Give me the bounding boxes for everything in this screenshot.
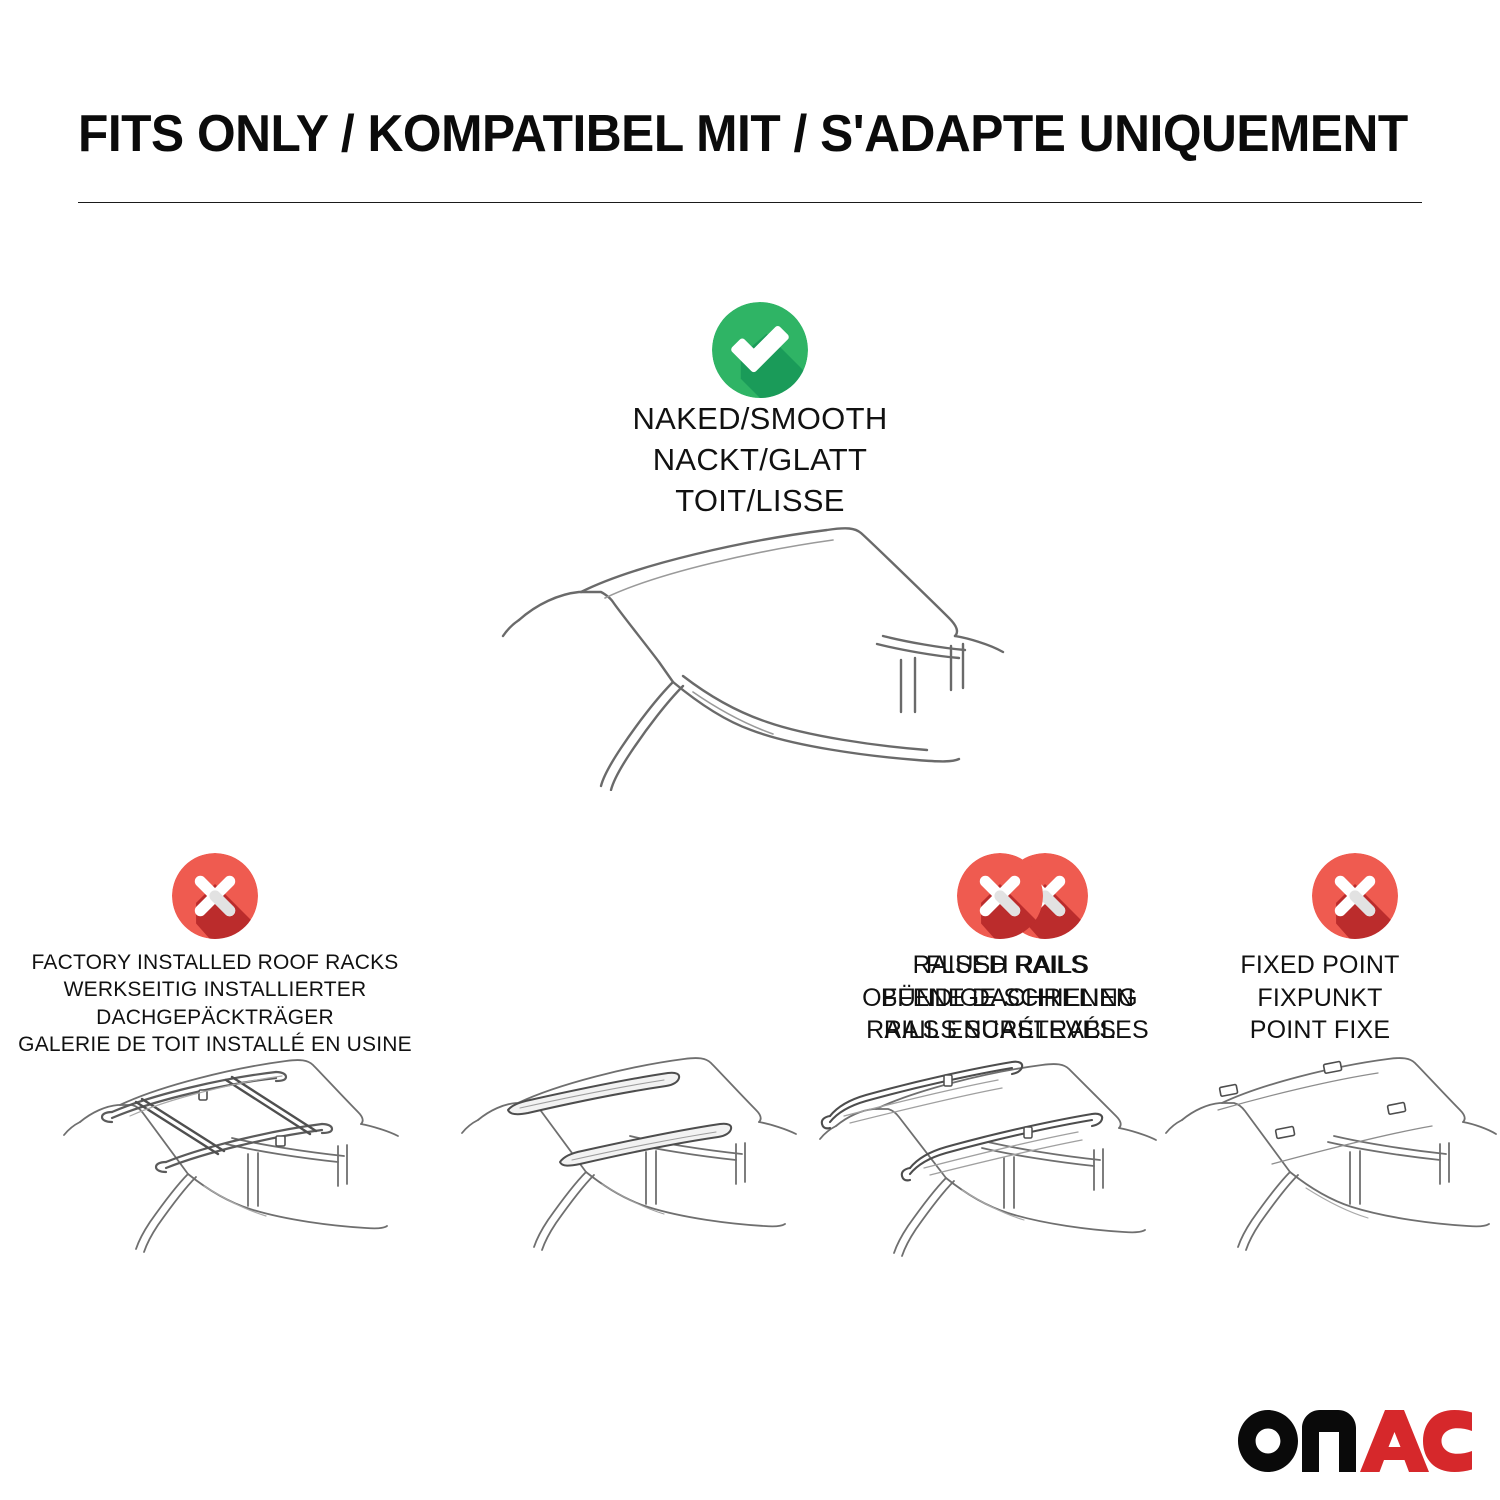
incompatible-label-3: RAISED RAILS OFFENE DACHRELING RAILS SUR… — [800, 949, 1200, 1047]
incompatible-1-label-de-line2: DACHGEPÄCKTRÄGER — [8, 1004, 422, 1031]
compatible-label-en: NAKED/SMOOTH — [525, 398, 995, 439]
red-cross-circle-icon — [957, 853, 1043, 939]
incompatible-4-label-de: FIXPUNKT — [1170, 982, 1470, 1015]
car-roof-raised-rails-illustration — [790, 1050, 1200, 1260]
red-cross-circle-icon — [1312, 853, 1398, 939]
incompatible-label-4: FIXED POINT FIXPUNKT POINT FIXE — [1170, 949, 1470, 1047]
green-check-circle-icon — [712, 302, 808, 398]
car-roof-flush-rails-illustration — [420, 1050, 830, 1260]
omac-logo-letter-c — [1423, 1410, 1472, 1472]
incompatible-1-label-en: FACTORY INSTALLED ROOF RACKS — [8, 949, 422, 976]
incompatible-4-label-fr: POINT FIXE — [1170, 1014, 1470, 1047]
incompatible-1-label-de-line1: WERKSEITIG INSTALLIERTER — [8, 976, 422, 1003]
omac-logo-letter-o — [1238, 1410, 1298, 1472]
omac-logo — [1238, 1410, 1472, 1472]
compatible-label-de: NACKT/GLATT — [525, 439, 995, 480]
incompatible-4-label-en: FIXED POINT — [1170, 949, 1470, 982]
red-cross-circle-icon — [172, 853, 258, 939]
incompatible-3-label-en: RAISED RAILS — [800, 949, 1200, 982]
car-roof-factory-rack-crossbars-illustration — [20, 1050, 430, 1260]
omac-logo-letter-a — [1360, 1410, 1429, 1472]
incompatible-3-label-fr: RAILS SURÉLEVÉS — [800, 1014, 1200, 1047]
title-divider — [78, 202, 1422, 203]
incompatible-3-label-de: OFFENE DACHRELING — [800, 982, 1200, 1015]
incompatible-label-1: FACTORY INSTALLED ROOF RACKS WERKSEITIG … — [8, 949, 422, 1058]
car-roof-fixed-point-illustration — [1160, 1050, 1500, 1260]
car-roof-naked-smooth-illustration — [497, 516, 1027, 791]
page-title: FITS ONLY / KOMPATIBEL MIT / S'ADAPTE UN… — [78, 108, 1367, 160]
compatible-label: NAKED/SMOOTH NACKT/GLATT TOIT/LISSE — [525, 398, 995, 522]
fitment-compatibility-infographic: FITS ONLY / KOMPATIBEL MIT / S'ADAPTE UN… — [0, 0, 1500, 1500]
